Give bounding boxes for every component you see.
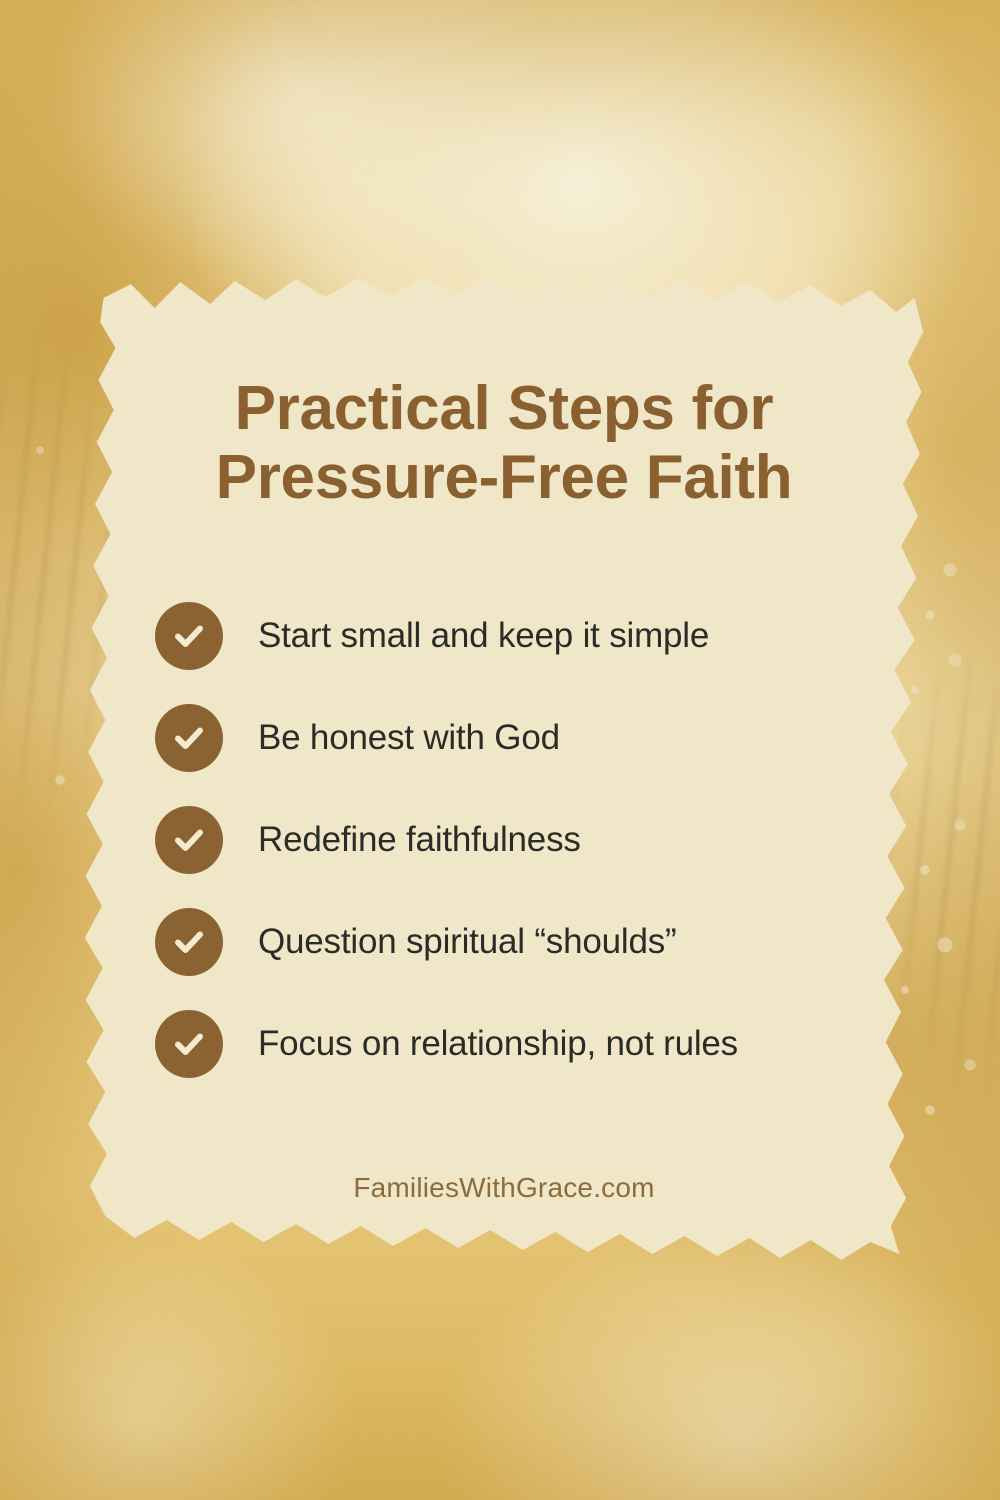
list-item-label: Redefine faithfulness [258,821,581,860]
poster-canvas: Practical Steps for Pressure-Free Faith … [0,0,1000,1500]
list-item: Redefine faithfulness [155,806,935,874]
page-title: Practical Steps for Pressure-Free Faith [78,374,930,513]
list-item: Be honest with God [155,704,935,772]
check-circle-icon [155,908,223,976]
list-item-label: Focus on relationship, not rules [258,1025,738,1064]
list-item: Focus on relationship, not rules [155,1010,935,1078]
site-attribution: FamiliesWithGrace.com [78,1172,930,1204]
list-item-label: Be honest with God [258,719,560,758]
check-circle-icon [155,602,223,670]
check-circle-icon [155,704,223,772]
card-content: Practical Steps for Pressure-Free Faith … [78,272,930,1272]
check-circle-icon [155,1010,223,1078]
list-item-label: Start small and keep it simple [258,617,709,656]
list-item-label: Question spiritual “shoulds” [258,923,677,962]
list-item: Start small and keep it simple [155,602,935,670]
checklist: Start small and keep it simple Be honest… [155,602,935,1112]
torn-paper-card: Practical Steps for Pressure-Free Faith … [78,272,930,1272]
list-item: Question spiritual “shoulds” [155,908,935,976]
check-circle-icon [155,806,223,874]
